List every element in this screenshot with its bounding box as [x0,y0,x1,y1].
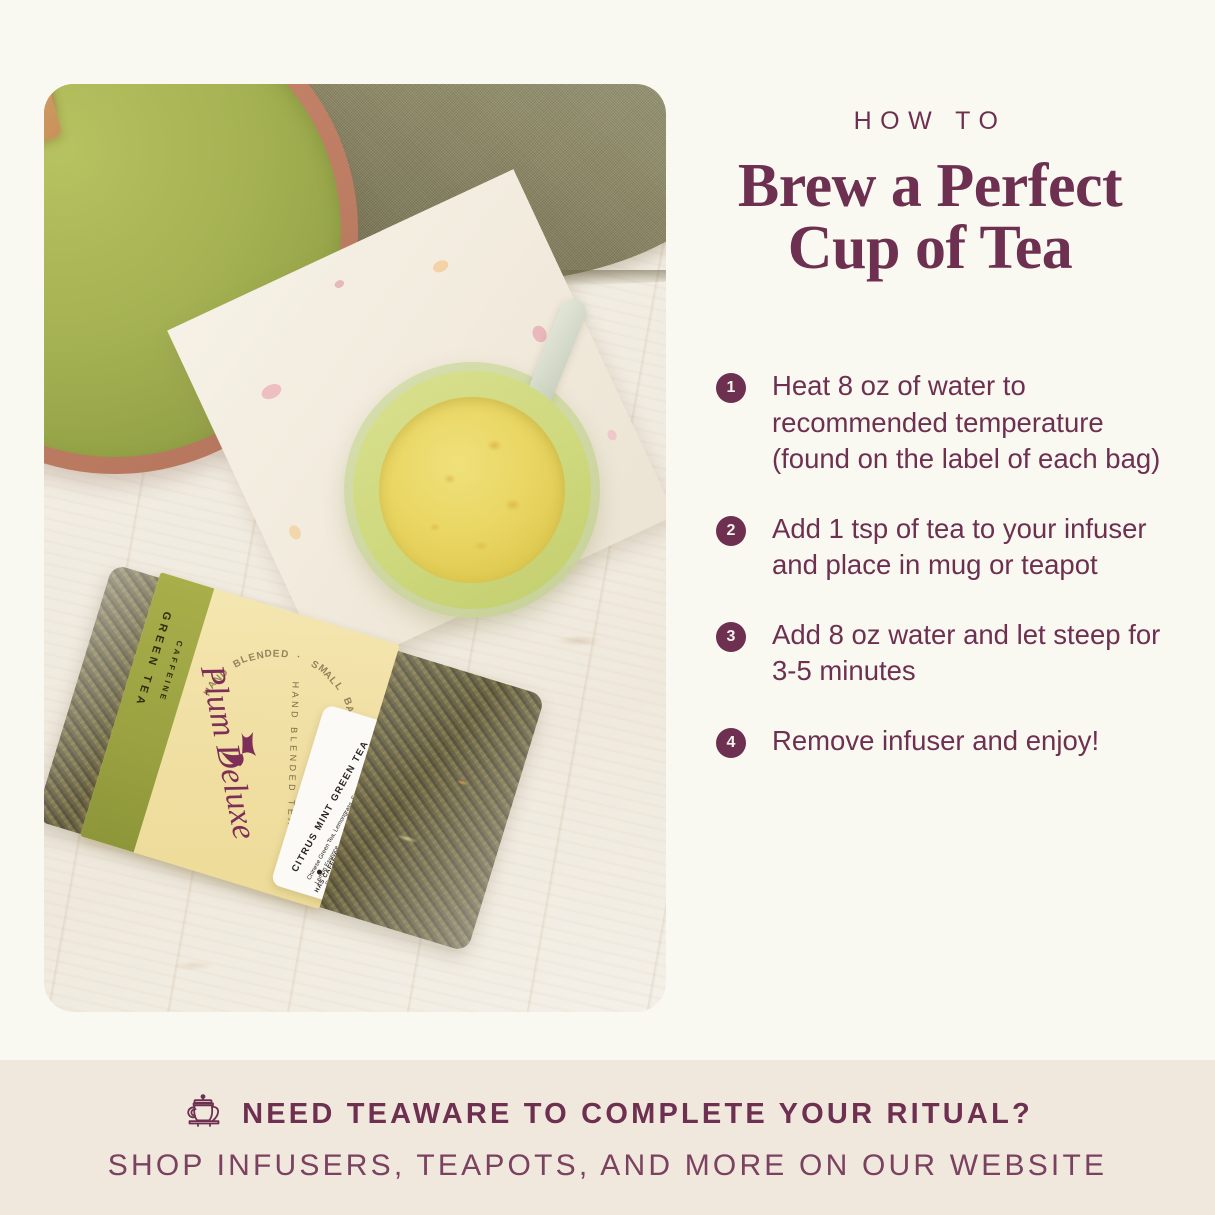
page-title: Brew a Perfect Cup of Tea [700,155,1160,279]
step-number-badge: 2 [716,516,746,546]
footer-line-1: NEED TEAWARE TO COMPLETE YOUR RITUAL? [242,1098,1033,1131]
step-number-badge: 3 [716,622,746,652]
package-arc-character: · [295,652,305,665]
package-arc-character: D [280,649,292,661]
step-number-badge: 1 [716,373,746,403]
step-text: Add 1 tsp of tea to your infuser and pla… [772,511,1172,584]
mug-rim [353,371,591,609]
page-title-line-1: Brew a Perfect [700,155,1160,217]
list-item: 2 Add 1 tsp of tea to your infuser and p… [716,511,1176,584]
poster-root: GREEN TEA CAFFEINE HANDBLENDED·SMALLBATC… [0,0,1215,1215]
page-title-line-2: Cup of Tea [700,217,1160,279]
instructions-panel: HOW TO Brew a Perfect Cup of Tea 1 Heat … [700,0,1170,1060]
photo-scene: GREEN TEA CAFFEINE HANDBLENDED·SMALLBATC… [44,84,666,1012]
footer-headline-row: NEED TEAWARE TO COMPLETE YOUR RITUAL? [182,1092,1033,1136]
list-item: 4 Remove infuser and enjoy! [716,723,1176,760]
footer-line-2: SHOP INFUSERS, TEAPOTS, AND MORE ON OUR … [108,1149,1107,1183]
step-text: Heat 8 oz of water to recommended temper… [772,368,1172,478]
step-text: Remove infuser and enjoy! [772,723,1099,760]
steps-list: 1 Heat 8 oz of water to recommended temp… [716,368,1176,793]
eyebrow-label: HOW TO [700,107,1160,136]
teapot-icon [182,1092,226,1136]
glass-tea-mug [344,362,600,618]
hero-photo: GREEN TEA CAFFEINE HANDBLENDED·SMALLBATC… [44,84,666,1012]
brewed-tea-liquid [379,397,565,583]
footer-banner: NEED TEAWARE TO COMPLETE YOUR RITUAL? SH… [0,1060,1215,1215]
step-text: Add 8 oz water and let steep for 3-5 min… [772,617,1172,690]
list-item: 3 Add 8 oz water and let steep for 3-5 m… [716,617,1176,690]
list-item: 1 Heat 8 oz of water to recommended temp… [716,368,1176,478]
step-number-badge: 4 [716,728,746,758]
